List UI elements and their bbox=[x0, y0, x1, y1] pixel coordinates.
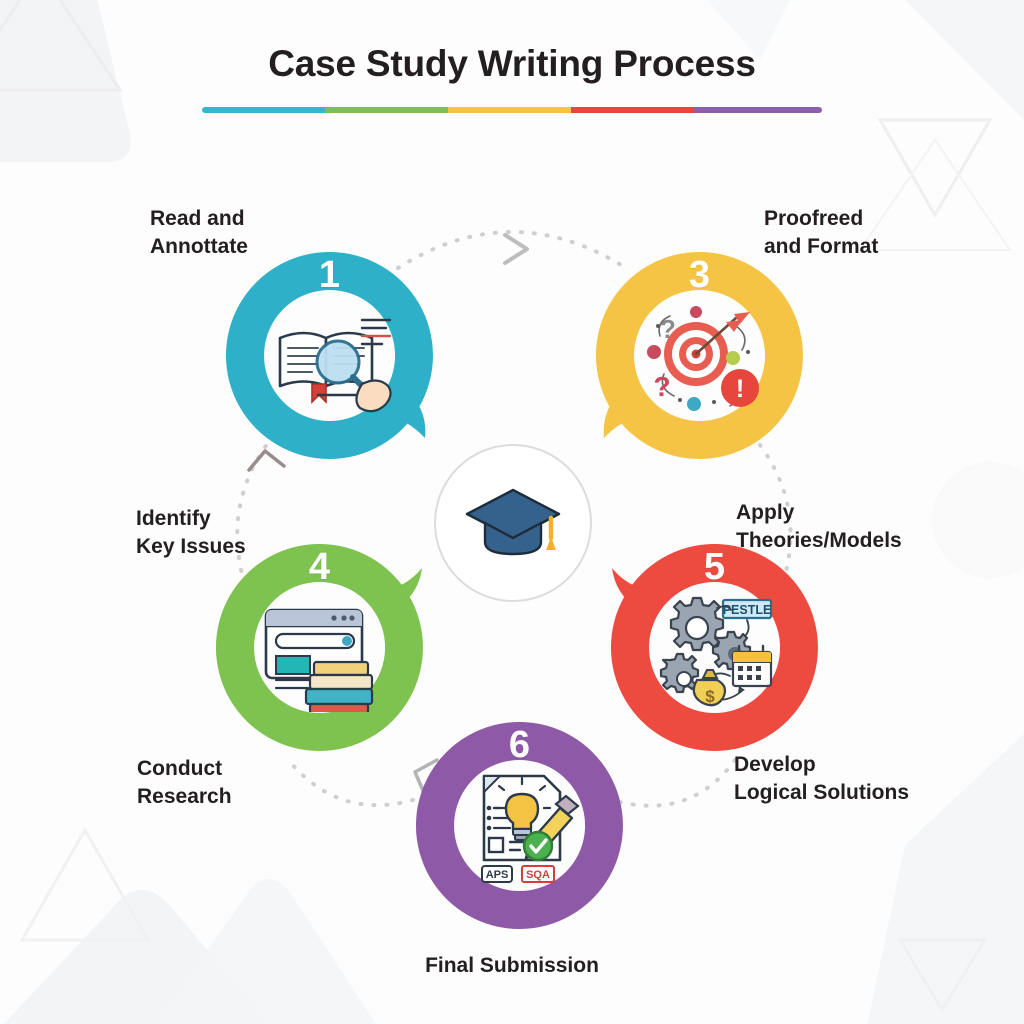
connector-arc-bottom-right bbox=[612, 760, 735, 806]
rule-segment-4 bbox=[571, 107, 694, 113]
step-label-read-and-annotate: Read and Annottate bbox=[150, 205, 350, 261]
book-magnifier-hand-icon bbox=[266, 292, 394, 420]
center-emblem bbox=[434, 444, 592, 602]
header: Case Study Writing Process bbox=[0, 0, 1024, 113]
document-bulb-check-icon: APS SQA bbox=[456, 762, 584, 890]
step-node-1[interactable]: 1 bbox=[222, 248, 437, 463]
aps-badge-label: APS bbox=[485, 869, 508, 881]
step-label-apply-theories-models: Apply Theories/Models bbox=[736, 499, 976, 555]
step-label-proofread-and-format: Proofreed and Format bbox=[764, 205, 984, 261]
graduation-cap-icon bbox=[461, 480, 565, 566]
step-node-3[interactable]: 3 ! ? ? bbox=[592, 248, 807, 463]
question-glyph-2: ? bbox=[653, 371, 670, 402]
step-label-identify-key-issues: Identify Key Issues bbox=[136, 505, 336, 561]
browser-books-icon bbox=[256, 584, 384, 712]
rule-segment-3 bbox=[448, 107, 571, 113]
gears-pestle-icon: PESTLE $ bbox=[651, 584, 779, 712]
step-node-5[interactable]: 5 PESTLE bbox=[607, 540, 822, 755]
step-label-conduct-research: Conduct Research bbox=[137, 755, 347, 811]
rule-segment-1 bbox=[202, 107, 325, 113]
page-title: Case Study Writing Process bbox=[0, 44, 1024, 85]
step-label-final-submission: Final Submission bbox=[362, 952, 662, 980]
currency-glyph: $ bbox=[705, 687, 715, 706]
exclamation-glyph: ! bbox=[735, 375, 743, 403]
title-underline-bar bbox=[202, 107, 822, 113]
step-label-develop-logical-solutions: Develop Logical Solutions bbox=[734, 751, 984, 807]
connector-arrow-top bbox=[505, 235, 527, 263]
target-questions-icon: ! ? ? bbox=[636, 292, 764, 420]
question-glyph-1: ? bbox=[660, 314, 676, 344]
step-node-4[interactable]: 4 bbox=[212, 540, 427, 755]
step-node-6[interactable]: 6 bbox=[412, 718, 627, 933]
rule-segment-5 bbox=[694, 107, 822, 113]
infographic-canvas: Case Study Writing Process 1 bbox=[0, 0, 1024, 1024]
rule-segment-2 bbox=[325, 107, 448, 113]
sqa-badge-label: SQA bbox=[526, 869, 550, 881]
